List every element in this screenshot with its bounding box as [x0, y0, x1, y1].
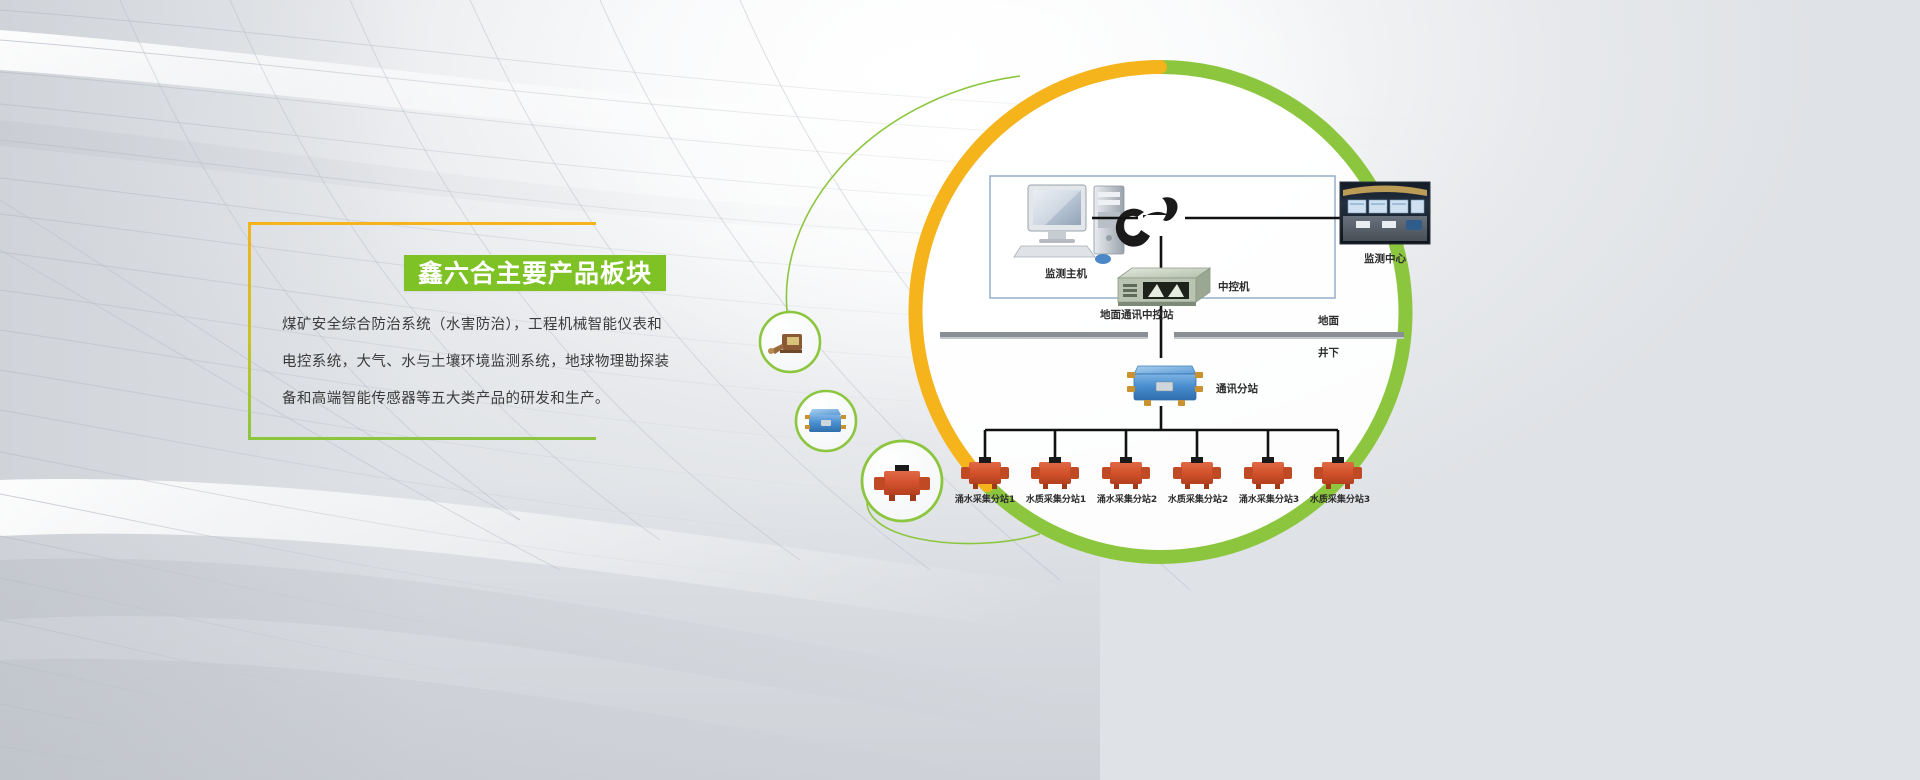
monitoring-center-label: 监测中心: [1364, 252, 1406, 265]
section-title-banner: 鑫六合主要产品板块: [404, 255, 666, 291]
bubble-device-blue: [796, 391, 856, 451]
left-frame-bottom-border: [248, 437, 596, 440]
bubble-device-brown: [760, 312, 820, 372]
collector-label-5: 涌水采集分站3: [1239, 493, 1299, 505]
central-controller-icon: [1118, 268, 1210, 306]
ground-station-label: 地面通讯中控站: [1100, 308, 1174, 321]
collector-label-1: 涌水采集分站1: [955, 493, 1015, 505]
left-frame-left-border: [248, 222, 251, 440]
collector-label-2: 水质采集分站1: [1026, 493, 1086, 505]
central-controller-label: 中控机: [1218, 280, 1250, 293]
bubble-device-red: [862, 441, 942, 521]
communication-substation-icon: [1127, 366, 1203, 406]
underground-side-label: 井下: [1318, 346, 1340, 359]
collector-label-3: 涌水采集分站2: [1097, 493, 1157, 505]
communication-substation-label: 通讯分站: [1216, 382, 1258, 395]
monitoring-center-icon: [1340, 182, 1430, 244]
ground-side-label: 地面: [1318, 314, 1340, 327]
monitoring-host-icon: [1014, 185, 1124, 264]
product-diagram-illustration: 监测主机: [640, 0, 1920, 780]
page-title: 鑫六合主要产品板块: [418, 261, 652, 286]
left-frame-top-border: [248, 222, 596, 225]
monitoring-host-label: 监测主机: [1045, 267, 1087, 280]
collector-label-4: 水质采集分站2: [1168, 493, 1228, 505]
collector-label-6: 水质采集分站3: [1310, 493, 1370, 505]
